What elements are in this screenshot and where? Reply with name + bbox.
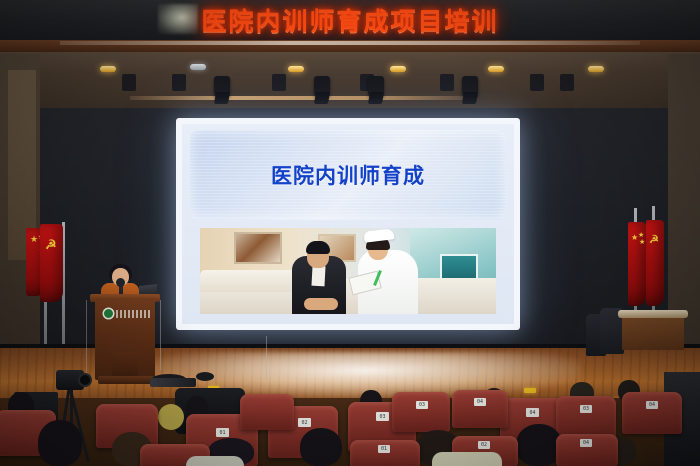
national-flag: ★ ★ ★ bbox=[628, 222, 646, 306]
projected-slide: 医院内训师育成 bbox=[182, 124, 514, 324]
seat-number-plate: 03 bbox=[376, 412, 389, 421]
conference-hall-photo: 医院内训师育成项目培训 ★ ★ ★ ★ ☭ ★ ★ ★ ☭ bbox=[0, 0, 700, 466]
seat-number-plate: 04 bbox=[526, 408, 539, 417]
light-housing bbox=[530, 74, 544, 91]
auditorium-seat: 04 bbox=[452, 390, 508, 428]
auditorium-seat: 03 bbox=[392, 392, 450, 432]
seat-number-plate: 02 bbox=[298, 418, 311, 427]
light-housing bbox=[272, 74, 286, 91]
downlight-icon bbox=[488, 66, 504, 72]
auditorium-seat: 04 bbox=[556, 434, 618, 466]
spotlight-icon bbox=[368, 76, 384, 98]
light-housing bbox=[172, 74, 186, 91]
slide-title-text: 医院内训师育成 bbox=[271, 160, 425, 190]
podium-label-text bbox=[116, 310, 150, 318]
slide-photo bbox=[200, 228, 496, 314]
auditorium-seat bbox=[240, 394, 294, 430]
attendee-jacket bbox=[432, 452, 502, 466]
attendee-head-hat bbox=[158, 404, 184, 430]
photo-sofa-arm bbox=[200, 270, 300, 292]
cable bbox=[160, 300, 161, 370]
photo-nurse-cap-icon bbox=[363, 228, 394, 243]
banner-light-patch bbox=[158, 4, 198, 34]
cable-coil bbox=[196, 372, 214, 381]
attendee-jacket bbox=[186, 456, 244, 466]
light-housing bbox=[440, 74, 454, 91]
seat-number-plate: 01 bbox=[378, 445, 390, 453]
photo-seated-man-hair bbox=[306, 241, 330, 254]
spotlight-icon bbox=[314, 76, 330, 98]
photo-wall-artwork bbox=[234, 232, 282, 264]
cable bbox=[266, 336, 267, 380]
auditorium-seat: 01 bbox=[350, 440, 420, 466]
beam-highlight bbox=[60, 41, 640, 45]
downlight-icon bbox=[190, 64, 206, 70]
auditorium-seat: 04 bbox=[622, 392, 682, 434]
party-flag: ☭ bbox=[646, 220, 664, 306]
party-flag: ☭ bbox=[40, 224, 63, 302]
led-banner: 医院内训师育成项目培训 bbox=[0, 0, 700, 40]
slide-title-box: 医院内训师育成 bbox=[190, 130, 506, 220]
downlight-icon bbox=[288, 66, 304, 72]
seat-number-plate: 01 bbox=[216, 428, 229, 437]
downlight-icon bbox=[100, 66, 116, 72]
camera-lens-icon bbox=[80, 375, 90, 385]
photo-seated-man-shirt bbox=[311, 266, 325, 287]
banner-title-text: 医院内训师育成项目培训 bbox=[201, 2, 498, 38]
photo-seated-man-hands bbox=[304, 298, 338, 310]
seat-number-plate: 02 bbox=[478, 441, 490, 449]
auditorium-seat: 03 bbox=[556, 396, 616, 438]
microphone-head-icon bbox=[116, 278, 125, 287]
spotlight-icon bbox=[462, 76, 478, 98]
lighting-rail bbox=[130, 96, 475, 100]
seat-number-plate: 04 bbox=[580, 439, 592, 447]
podium-logo-icon bbox=[104, 309, 113, 318]
seat-number-plate: 04 bbox=[646, 401, 658, 409]
downlight-icon bbox=[588, 66, 604, 72]
stage-table-top bbox=[618, 310, 688, 318]
floor-marker bbox=[524, 388, 536, 393]
right-side-wall bbox=[668, 54, 700, 354]
seat-number-plate: 04 bbox=[474, 398, 486, 406]
light-housing bbox=[560, 74, 574, 91]
light-housing bbox=[122, 74, 136, 91]
attendee-head bbox=[38, 420, 82, 466]
seat-number-plate: 03 bbox=[580, 405, 592, 413]
ceiling-lighting-zone bbox=[0, 52, 700, 110]
podium-base bbox=[98, 376, 154, 384]
seat-number-plate: 03 bbox=[416, 401, 428, 409]
stage-table bbox=[622, 314, 684, 350]
downlight-icon bbox=[390, 66, 406, 72]
spotlight-icon bbox=[214, 76, 230, 98]
projection-screen: 医院内训师育成 bbox=[176, 118, 520, 330]
cable bbox=[86, 300, 87, 378]
stage-equipment-rack bbox=[150, 378, 196, 387]
photo-wall-screen bbox=[440, 254, 478, 280]
attendee-head bbox=[300, 428, 342, 466]
